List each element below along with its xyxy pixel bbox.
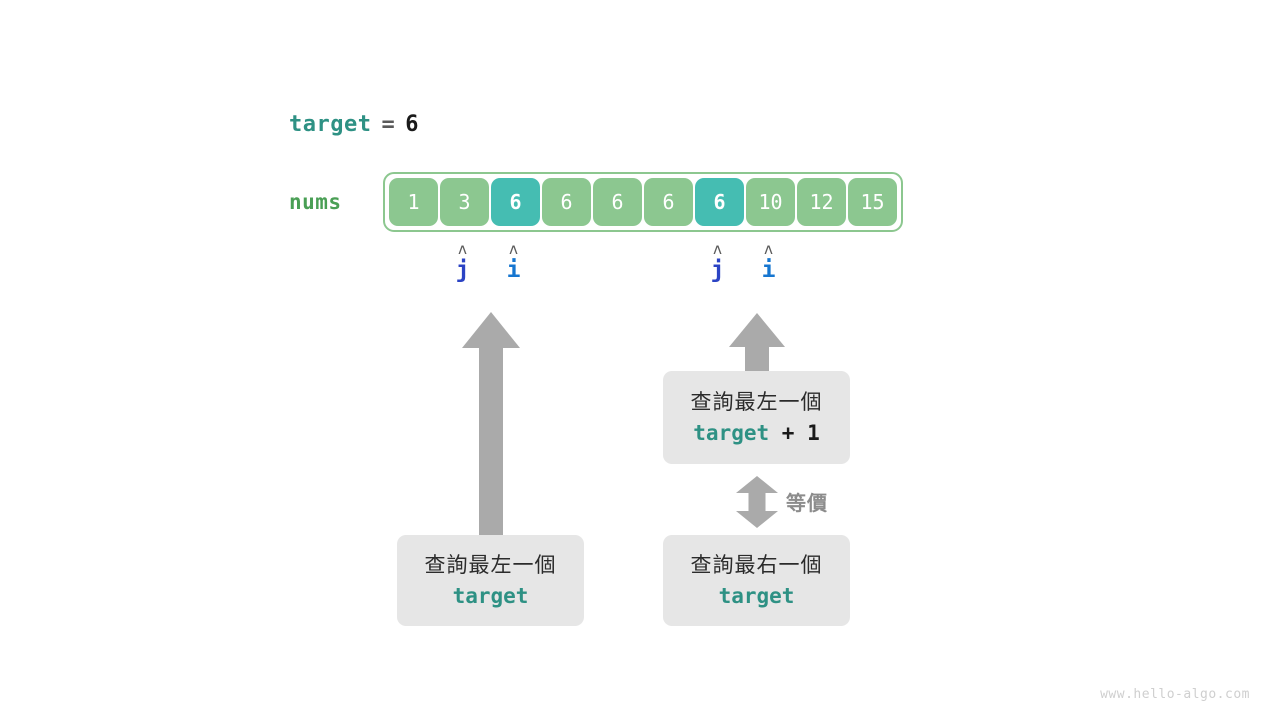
pointer-label: i	[489, 256, 538, 284]
array-cell: 6	[542, 178, 591, 226]
array-cell: 6	[644, 178, 693, 226]
note-box-leftmost-target-plus-one: 查詢最左一個 target + 1	[663, 371, 850, 464]
target-declaration: target = 6	[289, 112, 419, 137]
arrow-left-up	[462, 312, 520, 537]
pointer-caret-icon: ʌ	[438, 242, 487, 256]
target-keyword: target	[289, 112, 371, 137]
target-value: 6	[405, 112, 419, 137]
code-suffix: + 1	[769, 421, 820, 445]
array-cell: 10	[746, 178, 795, 226]
equiv-arrow-head-down	[736, 511, 778, 528]
note-box-right-bottom-code: target	[719, 580, 795, 612]
note-box-right-top-code: target + 1	[693, 417, 819, 449]
equiv-arrow-shaft	[749, 492, 766, 512]
array-cell: 6	[695, 178, 744, 226]
code-keyword-target: target	[453, 584, 529, 608]
arrow-left-shaft	[479, 347, 503, 537]
pointer-i: ʌi	[489, 242, 538, 284]
arrow-right-head	[729, 313, 785, 347]
watermark: www.hello-algo.com	[1100, 687, 1250, 702]
note-box-right-bottom-text: 查詢最右一個	[691, 550, 823, 580]
note-box-left-bottom-code: target	[453, 580, 529, 612]
diagram-canvas: target = 6 nums 1366666101215 ʌjʌiʌjʌi 查…	[0, 0, 1280, 720]
note-box-left-bottom-text: 查詢最左一個	[425, 550, 557, 580]
array-cell: 12	[797, 178, 846, 226]
pointer-caret-icon: ʌ	[489, 242, 538, 256]
arrow-right-shaft	[745, 346, 769, 372]
pointer-j: ʌj	[438, 242, 487, 284]
arrow-left-head	[462, 312, 520, 348]
array-cell: 1	[389, 178, 438, 226]
code-keyword-target: target	[719, 584, 795, 608]
array-label: nums	[289, 190, 342, 214]
code-keyword-target: target	[693, 421, 769, 445]
equivalence-double-arrow	[736, 476, 778, 528]
equivalence-label: 等價	[786, 487, 828, 516]
pointer-label: i	[744, 256, 793, 284]
pointer-label: j	[693, 256, 742, 284]
pointer-j: ʌj	[693, 242, 742, 284]
arrow-right-up	[729, 313, 785, 371]
array-cell: 15	[848, 178, 897, 226]
pointer-caret-icon: ʌ	[744, 242, 793, 256]
equiv-arrow-head-up	[736, 476, 778, 493]
pointer-label: j	[438, 256, 487, 284]
pointer-i: ʌi	[744, 242, 793, 284]
array-cell: 3	[440, 178, 489, 226]
array-cell: 6	[491, 178, 540, 226]
note-box-rightmost-target: 查詢最右一個 target	[663, 535, 850, 626]
pointer-caret-icon: ʌ	[693, 242, 742, 256]
array-container: 1366666101215	[383, 172, 903, 232]
equals-sign: =	[381, 112, 395, 137]
array-cell: 6	[593, 178, 642, 226]
note-box-leftmost-target: 查詢最左一個 target	[397, 535, 584, 626]
note-box-right-top-text: 查詢最左一個	[691, 387, 823, 417]
